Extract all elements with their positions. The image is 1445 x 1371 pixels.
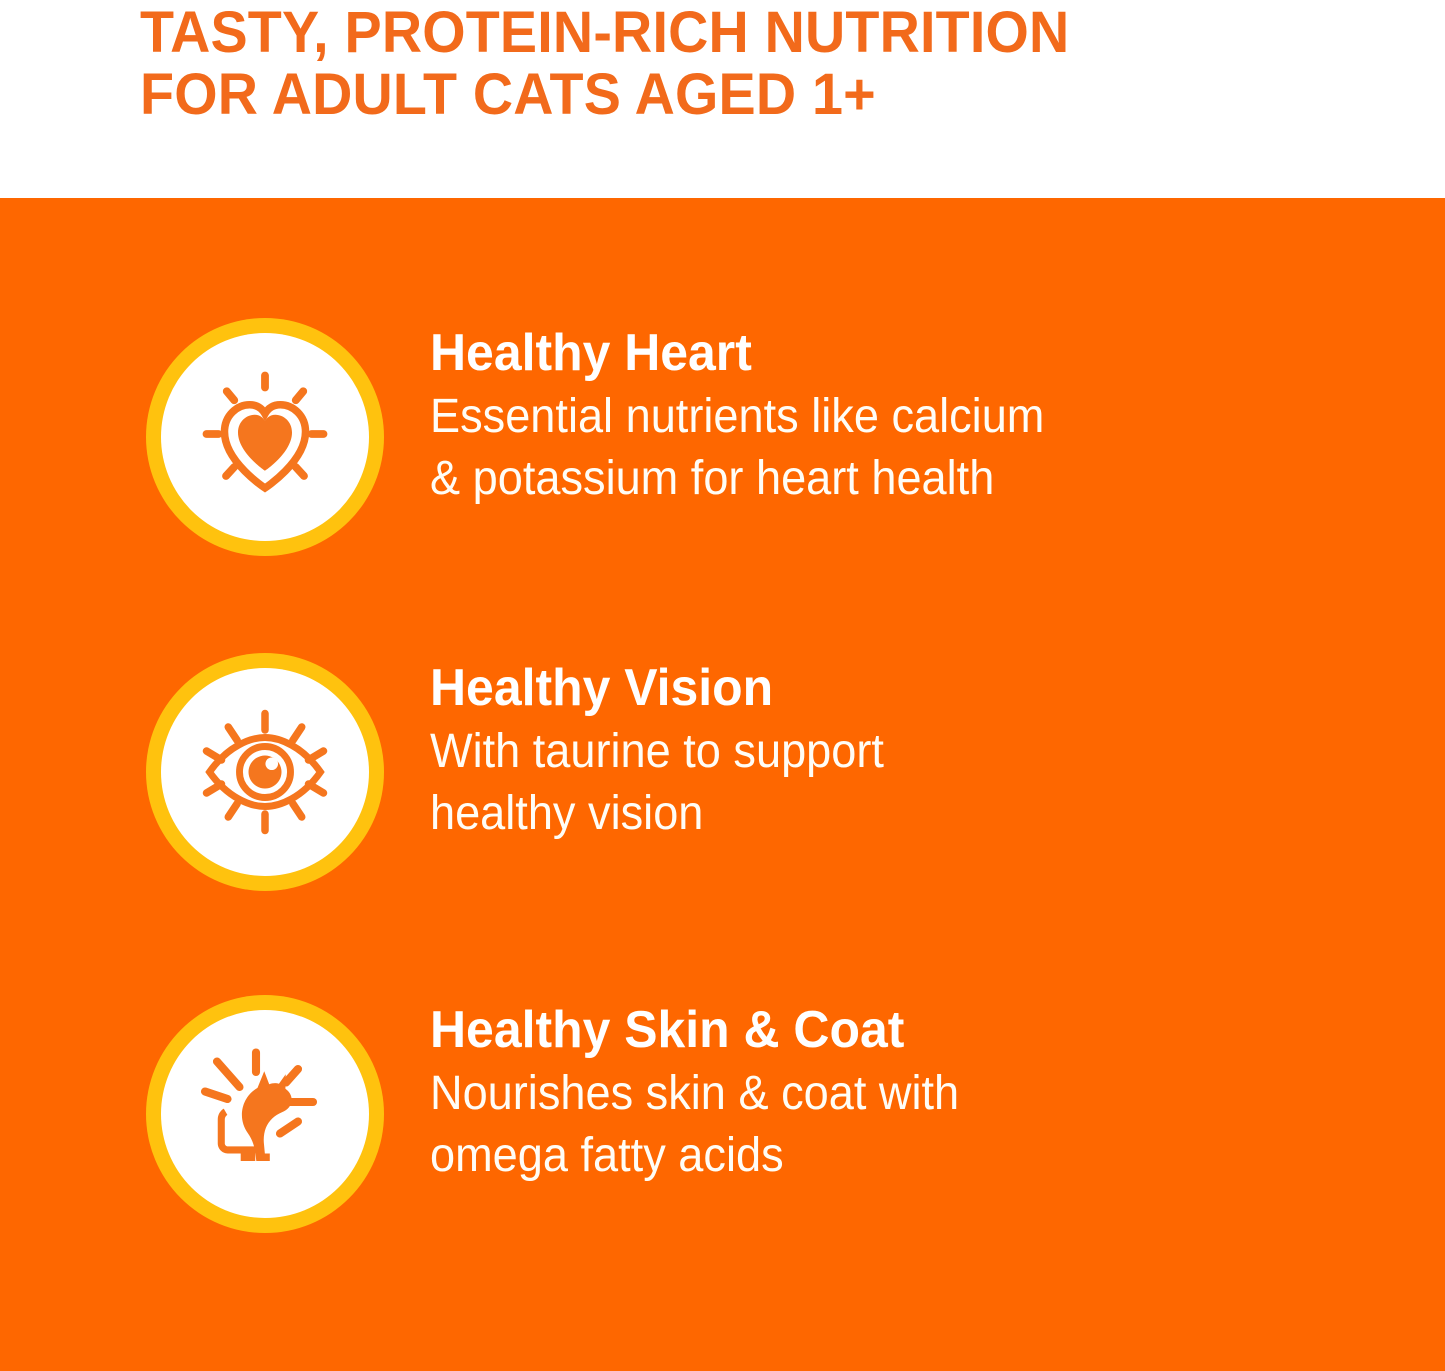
benefits-list: Healthy Heart Essential nutrients like c… [0,198,1445,1371]
product-benefits-graphic: TASTY, PROTEIN-RICH NUTRITION FOR ADULT … [0,0,1445,1371]
radiant-cat-icon [190,1039,340,1189]
radiant-eye-icon [190,697,340,847]
badge-inner-disc [161,668,369,876]
benefit-text-block: Healthy Heart Essential nutrients like c… [384,318,1330,510]
benefit-icon-badge [146,318,384,556]
badge-inner-disc [161,333,369,541]
benefit-description: With taurine to support healthy vision [430,721,1276,845]
benefit-text-block: Healthy Vision With taurine to support h… [384,653,1330,845]
benefit-icon-badge [146,995,384,1233]
benefit-description: Essential nutrients like calcium & potas… [430,386,1276,510]
benefits-panel: Healthy Heart Essential nutrients like c… [0,198,1445,1371]
page-title: TASTY, PROTEIN-RICH NUTRITION FOR ADULT … [140,2,1393,126]
benefit-item-healthy-heart: Healthy Heart Essential nutrients like c… [0,318,1445,556]
benefit-title: Healthy Heart [430,324,1294,382]
benefit-item-healthy-skin-coat: Healthy Skin & Coat Nourishes skin & coa… [0,995,1445,1233]
radiant-heart-icon [190,362,340,512]
benefit-item-healthy-vision: Healthy Vision With taurine to support h… [0,653,1445,891]
benefit-text-block: Healthy Skin & Coat Nourishes skin & coa… [384,995,1330,1187]
benefit-title: Healthy Skin & Coat [430,1001,1294,1059]
benefit-title: Healthy Vision [430,659,1294,717]
header-banner: TASTY, PROTEIN-RICH NUTRITION FOR ADULT … [0,0,1445,198]
benefit-icon-badge [146,653,384,891]
benefit-description: Nourishes skin & coat with omega fatty a… [430,1063,1276,1187]
badge-inner-disc [161,1010,369,1218]
